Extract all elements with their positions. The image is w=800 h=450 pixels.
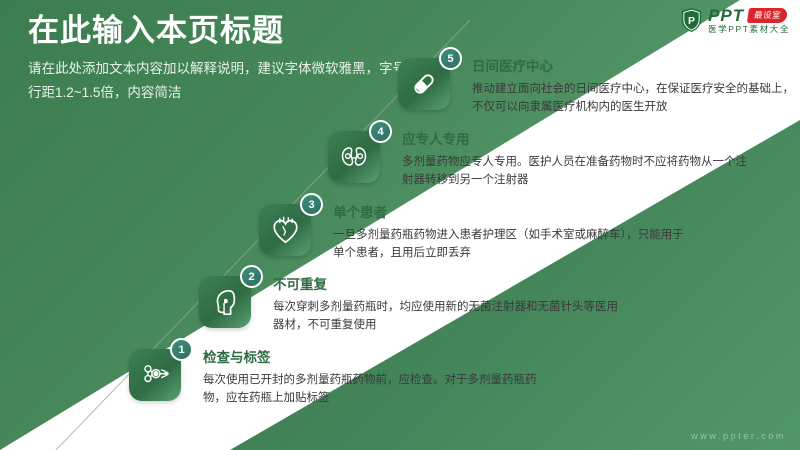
item-text-5: 日间医疗中心 推动建立面向社会的日间医疗中心，在保证医疗安全的基础上，不仅可以向… [472, 58, 800, 117]
icon-box-4: 4 [328, 131, 380, 183]
item-text-1: 检查与标签 每次使用已开封的多剂量药瓶药物前，应检查。对于多剂量药瓶药物，应在药… [203, 349, 555, 408]
item-desc-5: 推动建立面向社会的日间医疗中心，在保证医疗安全的基础上，不仅可以向隶属医疗机构内… [472, 80, 800, 117]
list-item-4[interactable]: 4 应专人专用 多剂量药物应专人专用。医护人员在准备药物时不应将药物从一个注射器… [328, 131, 754, 190]
list-item-5[interactable]: 5 日间医疗中心 推动建立面向社会的日间医疗中心，在保证医疗安全的基础上，不仅可… [398, 58, 800, 117]
item-badge-4: 4 [369, 120, 392, 143]
brand-logo[interactable]: P PPT 最设室 医学PPT素材大全 [680, 7, 790, 34]
molecule-icon [140, 361, 170, 389]
item-text-2: 不可重复 每次穿刺多剂量药瓶时，均应使用新的无菌注射器和无菌针头等医用器材，不可… [273, 276, 625, 335]
svg-text:P: P [688, 15, 695, 27]
page-title: 在此输入本页标题 [28, 14, 468, 48]
item-badge-1: 1 [170, 338, 193, 361]
head-brain-icon [211, 287, 239, 317]
icon-box-5: 5 [398, 58, 450, 110]
logo-brand-text: PPT [708, 7, 744, 24]
item-desc-4: 多剂量药物应专人专用。医护人员在准备药物时不应将药物从一个注射器转移到另一个注射… [402, 153, 754, 190]
icon-box-2: 2 [199, 276, 251, 328]
list-item-1[interactable]: 1 检查与标签 每次使用已开封的多剂量药瓶药物前，应检查。对于多剂量药瓶药物，应… [129, 349, 555, 408]
item-title-4: 应专人专用 [402, 133, 754, 148]
item-text-4: 应专人专用 多剂量药物应专人专用。医护人员在准备药物时不应将药物从一个注射器转移… [402, 131, 754, 190]
item-title-2: 不可重复 [273, 278, 625, 293]
shield-p-icon: P [680, 7, 703, 33]
item-desc-1: 每次使用已开封的多剂量药瓶药物前，应检查。对于多剂量药瓶药物，应在药瓶上加贴标签 [203, 371, 555, 408]
item-desc-3: 一旦多剂量药瓶药物进入患者护理区（如手术室或麻醉车），只能用于单个患者，且用后立… [333, 226, 685, 263]
list-item-2[interactable]: 2 不可重复 每次穿刺多剂量药瓶时，均应使用新的无菌注射器和无菌针头等医用器材，… [199, 276, 625, 335]
watermark: www.ppter.com [691, 431, 786, 441]
icon-box-1: 1 [129, 349, 181, 401]
slide-canvas: 在此输入本页标题 请在此处添加文本内容加以解释说明，建议字体微软雅黑，字号12~… [0, 0, 800, 450]
item-badge-3: 3 [300, 193, 323, 216]
item-title-3: 单个患者 [333, 206, 685, 221]
capsule-icon [409, 69, 439, 99]
icon-box-3: 3 [259, 204, 311, 256]
list-item-3[interactable]: 3 单个患者 一旦多剂量药瓶药物进入患者护理区（如手术室或麻醉车），只能用于单个… [259, 204, 685, 263]
item-desc-2: 每次穿刺多剂量药瓶时，均应使用新的无菌注射器和无菌针头等医用器材，不可重复使用 [273, 298, 625, 335]
item-badge-5: 5 [439, 47, 462, 70]
kidneys-icon [339, 143, 369, 171]
heart-icon [271, 215, 300, 245]
item-badge-2: 2 [240, 265, 263, 288]
item-title-1: 检查与标签 [203, 351, 555, 366]
item-text-3: 单个患者 一旦多剂量药瓶药物进入患者护理区（如手术室或麻醉车），只能用于单个患者… [333, 204, 685, 263]
item-title-5: 日间医疗中心 [472, 60, 800, 75]
logo-tagline: 医学PPT素材大全 [708, 25, 790, 34]
logo-badge-text: 最设室 [747, 8, 788, 23]
